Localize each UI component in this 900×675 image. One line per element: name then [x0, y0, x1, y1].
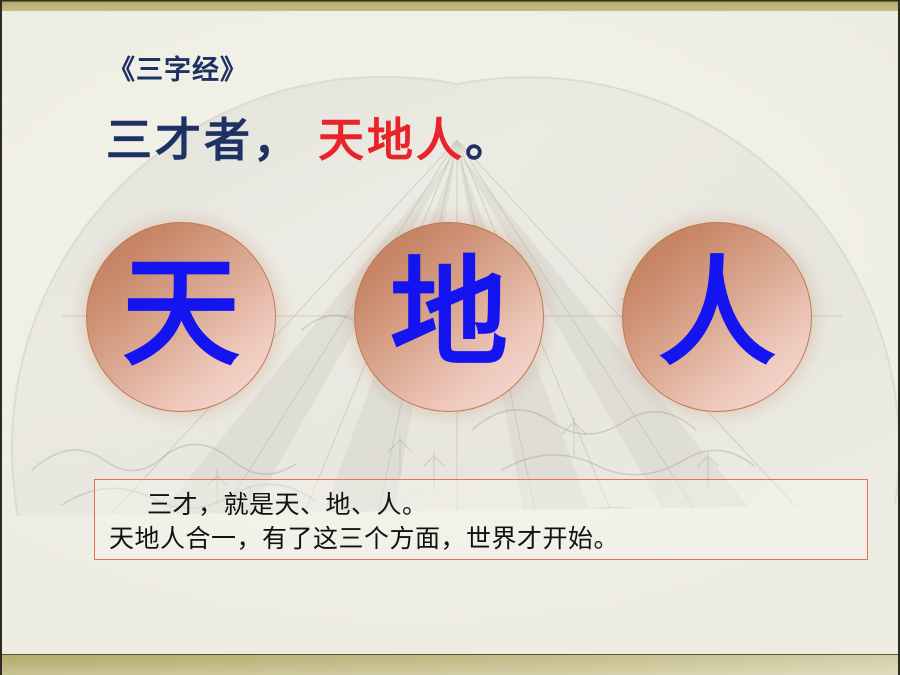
circle-char-ren: 人: [658, 256, 776, 374]
explanation-box: 三才，就是天、地、人。 天地人合一，有了这三个方面，世界才开始。: [94, 479, 868, 560]
presentation-slide: 《三字经》 三才者，天地人。 天 地 人 三才，就是天、地、人。 天地人合一，有…: [0, 0, 900, 675]
book-title: 《三字经》: [108, 48, 248, 87]
verse-part-navy-first: 三才者，: [106, 115, 302, 166]
circle-ren: 人: [622, 222, 812, 412]
verse-line: 三才者，天地人。: [106, 116, 514, 167]
verse-part-navy-last: 。: [465, 115, 514, 166]
circle-di: 地: [354, 222, 544, 412]
top-border-band: [2, 0, 898, 11]
explanation-line-2: 天地人合一，有了这三个方面，世界才开始。: [109, 522, 857, 556]
bottom-border-band: [2, 654, 898, 675]
circle-tian: 天: [86, 222, 276, 412]
verse-part-red: 天地人: [318, 115, 465, 166]
explanation-line-1: 三才，就是天、地、人。: [109, 488, 857, 522]
circle-char-tian: 天: [122, 256, 240, 374]
circle-char-di: 地: [390, 256, 508, 374]
